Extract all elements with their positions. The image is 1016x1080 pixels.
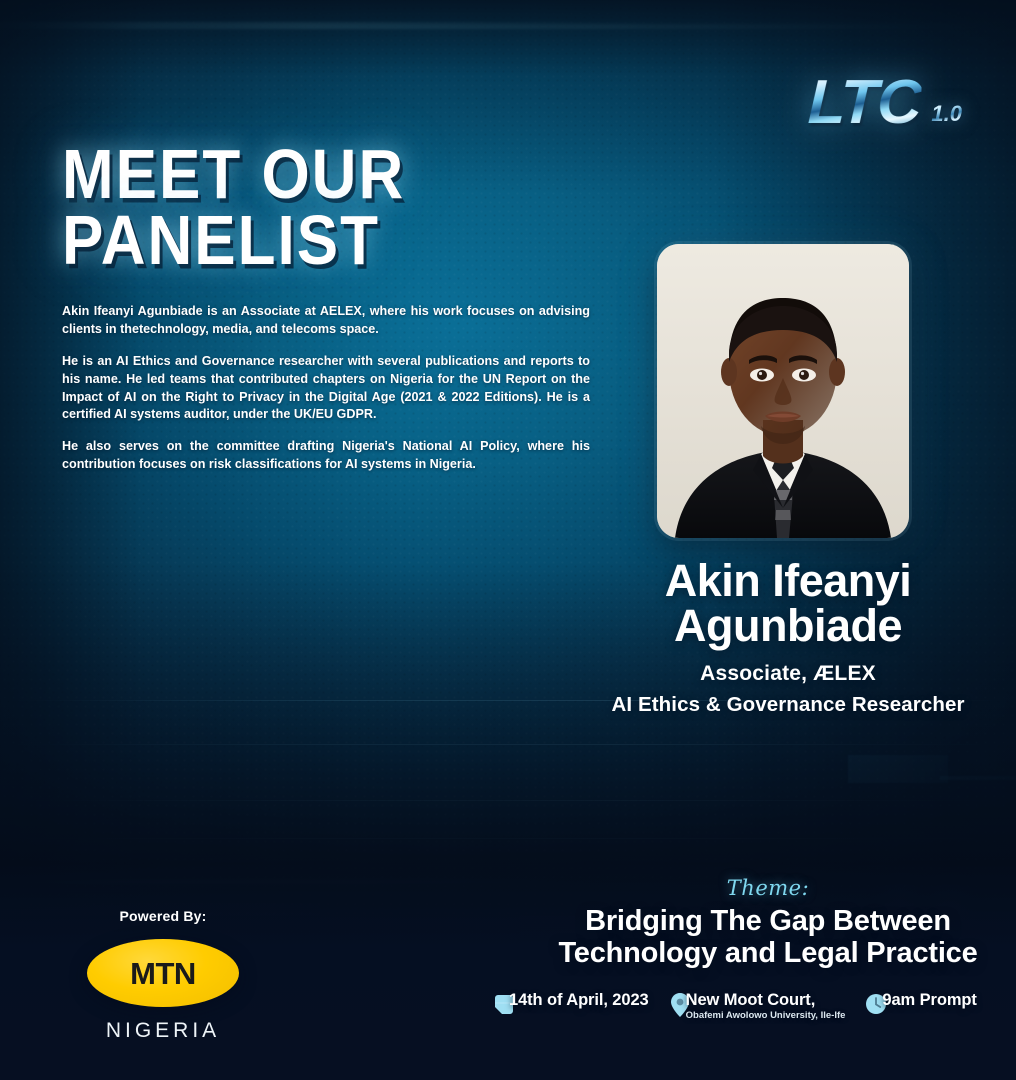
panelist-role: Associate, ÆLEX [560, 662, 1016, 686]
panelist-specialty: AI Ethics & Governance Researcher [560, 693, 1016, 717]
page-title: MEET OUR PANELIST [62, 143, 405, 275]
bio-paragraph-1: Akin Ifeanyi Agunbiade is an Associate a… [62, 303, 590, 339]
event-venue-institution: Obafemi Awolowo University, Ile-Ife [686, 1010, 846, 1021]
event-detail-time-text: 9am Prompt [882, 992, 976, 1009]
headshot-illustration [657, 244, 909, 538]
panelist-name-line-2: Agunbiade [560, 603, 1016, 648]
event-date: 14th of April, 2023 [509, 992, 649, 1009]
event-details-row: 14th of April, 2023 New Moot Court, Obaf… [492, 992, 1012, 1022]
powered-by-label: Powered By: [48, 908, 278, 924]
event-detail-venue-text: New Moot Court, Obafemi Awolowo Universi… [686, 992, 846, 1022]
page-title-line-1: MEET OUR [62, 143, 405, 209]
panelist-photo [657, 244, 909, 538]
event-venue: New Moot Court, [686, 992, 846, 1009]
bio-paragraph-3: He also serves on the committee drafting… [62, 438, 590, 474]
event-detail-venue: New Moot Court, Obafemi Awolowo Universi… [669, 992, 846, 1022]
mtn-logo: MTN [87, 939, 239, 1007]
panelist-identity: Akin Ifeanyi Agunbiade Associate, ÆLEX A… [560, 558, 1016, 717]
panelist-poster: LTC 1.0 MEET OUR PANELIST Akin Ifeanyi A… [0, 0, 1016, 1080]
theme-title-line-2: Technology and Legal Practice [520, 937, 1016, 969]
event-detail-time: 9am Prompt [865, 992, 976, 1016]
ltc-logo: LTC 1.0 [808, 72, 962, 134]
event-detail-date: 14th of April, 2023 [492, 992, 649, 1016]
sponsor-block: Powered By: MTN NIGERIA [48, 908, 278, 1043]
theme-title-line-1: Bridging The Gap Between [520, 905, 1016, 937]
ltc-logo-mark: LTC [807, 72, 922, 134]
theme-block: Theme: Bridging The Gap Between Technolo… [520, 876, 1016, 970]
event-detail-date-text: 14th of April, 2023 [509, 992, 649, 1009]
theme-title: Bridging The Gap Between Technology and … [520, 905, 1016, 970]
theme-label: Theme: [520, 876, 1016, 900]
panelist-name-line-1: Akin Ifeanyi [560, 558, 1016, 603]
mtn-logo-subtitle: NIGERIA [48, 1019, 278, 1043]
page-title-line-2: PANELIST [62, 209, 405, 275]
ltc-logo-version: 1.0 [931, 103, 962, 125]
bio-paragraph-2: He is an AI Ethics and Governance resear… [62, 353, 590, 425]
mtn-logo-text: MTN [130, 958, 196, 989]
panelist-bio: Akin Ifeanyi Agunbiade is an Associate a… [62, 303, 590, 474]
event-time: 9am Prompt [882, 992, 976, 1009]
